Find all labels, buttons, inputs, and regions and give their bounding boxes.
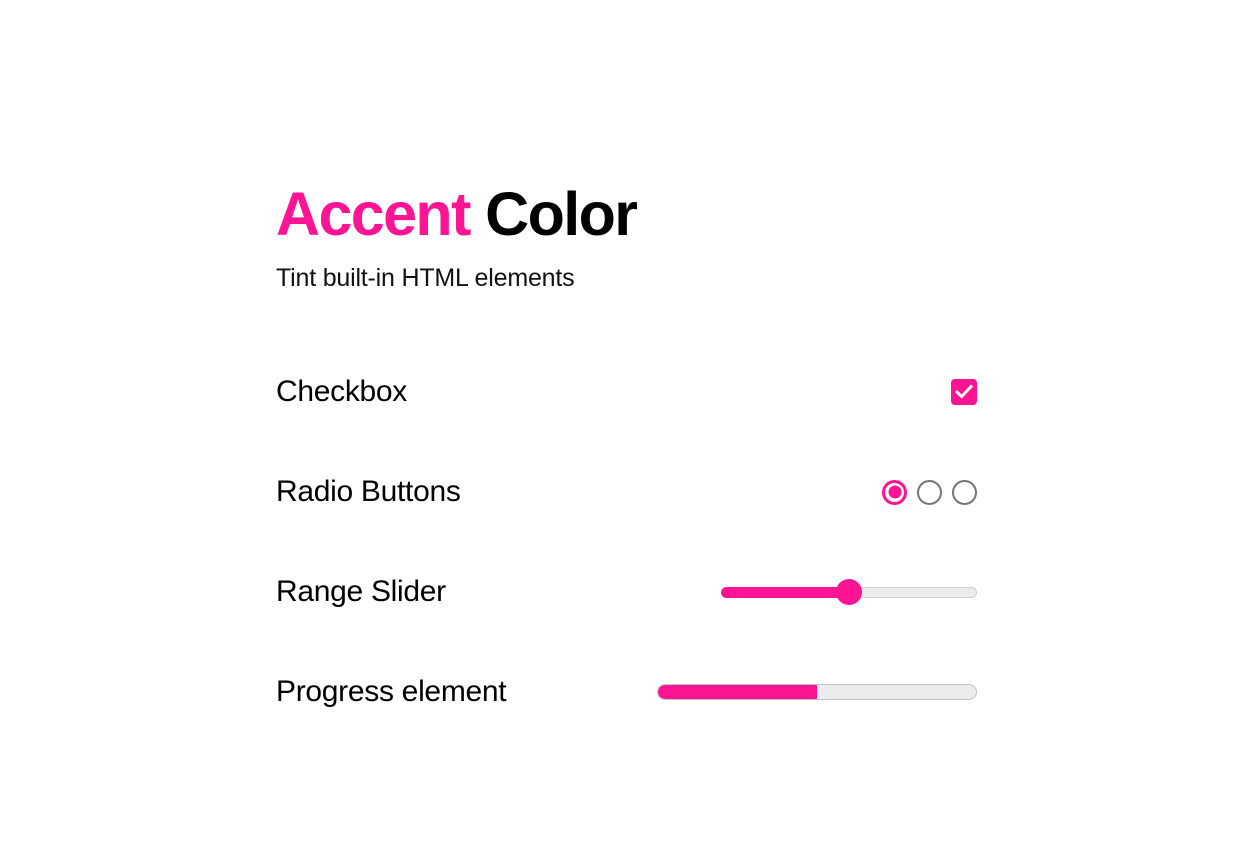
- checkmark-icon: [955, 384, 973, 400]
- row-control-progress-element: [657, 684, 977, 700]
- range-slider-thumb[interactable]: [836, 579, 862, 605]
- range-slider-fill: [721, 587, 849, 598]
- row-range-slider: Range Slider: [276, 542, 977, 642]
- row-control-radio-buttons: [882, 480, 977, 505]
- page-title-rest-word: Color: [470, 180, 637, 248]
- radio-option-2[interactable]: [917, 480, 942, 505]
- row-checkbox: Checkbox: [276, 342, 977, 442]
- checkbox-input[interactable]: [951, 379, 977, 405]
- row-control-checkbox: [951, 379, 977, 405]
- radio-option-3[interactable]: [952, 480, 977, 505]
- accent-color-demo-page: Accent Color Tint built-in HTML elements…: [0, 0, 1254, 858]
- progress-element: [657, 684, 977, 700]
- row-label-checkbox: Checkbox: [276, 374, 407, 410]
- radio-group: [882, 480, 977, 505]
- row-label-progress-element: Progress element: [276, 674, 506, 710]
- page-header: Accent Color Tint built-in HTML elements: [276, 178, 996, 294]
- radio-option-1[interactable]: [882, 480, 907, 505]
- row-radio-buttons: Radio Buttons: [276, 442, 977, 542]
- progress-element-fill: [658, 685, 817, 699]
- row-control-range-slider: [721, 579, 977, 605]
- row-label-radio-buttons: Radio Buttons: [276, 474, 461, 510]
- page-title-accent-word: Accent: [276, 180, 470, 248]
- element-list: Checkbox Radio Buttons R: [276, 342, 977, 742]
- page-title: Accent Color: [276, 178, 996, 250]
- row-progress-element: Progress element: [276, 642, 977, 742]
- range-slider-input[interactable]: [721, 579, 977, 605]
- page-subtitle: Tint built-in HTML elements: [276, 262, 996, 294]
- row-label-range-slider: Range Slider: [276, 574, 446, 610]
